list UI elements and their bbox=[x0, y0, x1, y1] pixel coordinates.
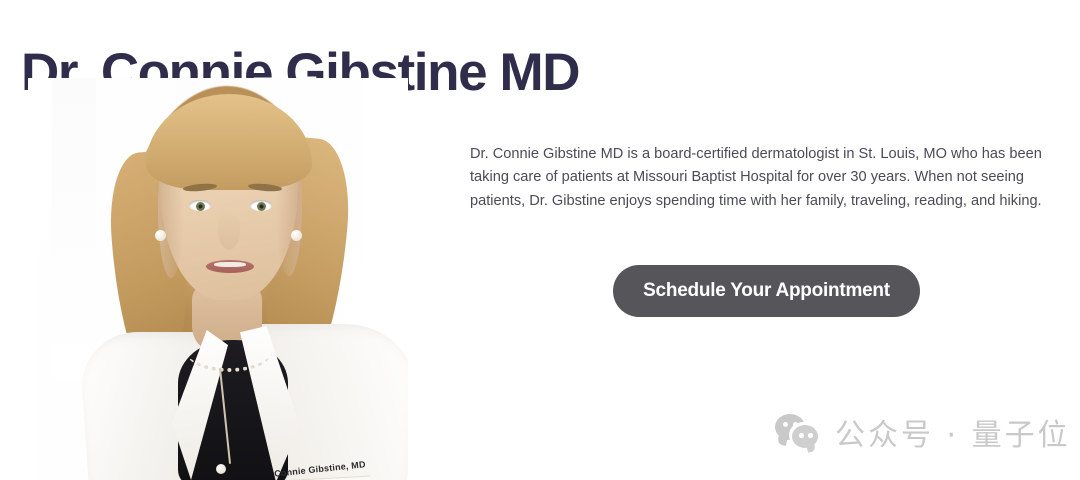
doctor-portrait: Connie Gibstine, MD bbox=[28, 78, 408, 480]
page-root: Dr. Connie Gibstine MD bbox=[0, 0, 1080, 480]
schedule-appointment-button[interactable]: Schedule Your Appointment bbox=[613, 265, 920, 317]
nose bbox=[218, 212, 240, 250]
portrait-backdrop-strip bbox=[52, 78, 96, 378]
doctor-bio: Dr. Connie Gibstine MD is a board-certif… bbox=[470, 143, 1070, 214]
wechat-icon bbox=[775, 412, 823, 452]
portrait-image: Connie Gibstine, MD bbox=[28, 78, 408, 480]
earring-left bbox=[155, 230, 166, 241]
pendant bbox=[216, 464, 226, 474]
earring-right bbox=[291, 230, 302, 241]
pearl-necklace bbox=[186, 330, 272, 372]
teeth bbox=[214, 262, 246, 267]
iris-left bbox=[196, 202, 205, 211]
watermark: 公众号 · 量子位 bbox=[775, 410, 1071, 454]
iris-right bbox=[257, 202, 266, 211]
watermark-text: 公众号 · 量子位 bbox=[835, 410, 1071, 454]
